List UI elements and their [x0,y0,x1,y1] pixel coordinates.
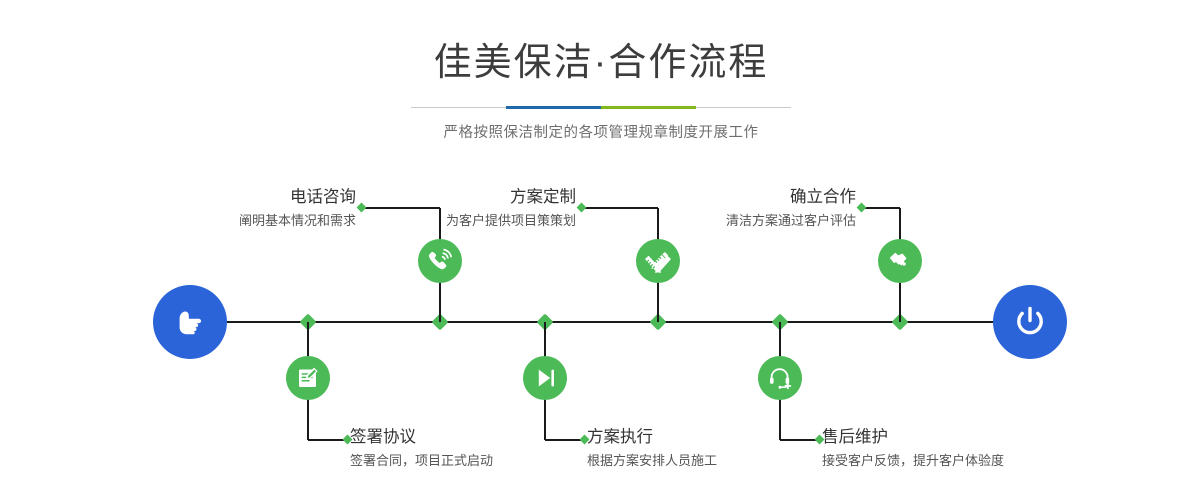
pointing-hand-icon [170,302,210,342]
step-title: 售后维护 [822,428,1152,447]
step-node-sign-agreement[interactable] [286,356,330,400]
start-node[interactable] [153,285,227,359]
step-node-plan-customize[interactable] [636,239,680,283]
pencil-ruler-icon [645,248,671,274]
step-label-plan-customize: 方案定制 为客户提供项目策策划 [320,188,576,229]
step-desc: 阐明基本情况和需求 [100,214,356,229]
step-title: 电话咨询 [100,188,356,207]
step-label-establish-cooperation: 确立合作 清洁方案通过客户评估 [600,188,856,229]
step-title: 确立合作 [600,188,856,207]
step-title: 方案定制 [320,188,576,207]
phone-call-icon [427,248,453,274]
page-title: 佳美保洁·合作流程 [0,44,1202,82]
divider-segment-blue [506,106,601,109]
connector-dot [577,203,587,213]
step-node-establish-cooperation[interactable] [878,239,922,283]
power-icon [1009,301,1051,343]
connector-line [545,439,583,441]
step-node-plan-execute[interactable] [523,356,567,400]
step-desc: 接受客户反馈，提升客户体验度 [822,454,1152,469]
header: 佳美保洁·合作流程 严格按照保洁制定的各项管理规章制度开展工作 [0,0,1202,142]
connector-line [308,439,346,441]
connector-line [862,207,900,209]
step-desc: 清洁方案通过客户评估 [600,214,856,229]
flow-diagram-canvas: 佳美保洁·合作流程 严格按照保洁制定的各项管理规章制度开展工作 [0,0,1202,502]
page-subtitle: 严格按照保洁制定的各项管理规章制度开展工作 [0,121,1202,142]
handshake-icon [887,248,913,274]
step-node-after-sales[interactable] [758,356,802,400]
connector-dot [857,203,867,213]
step-label-phone-consult: 电话咨询 阐明基本情况和需求 [100,188,356,229]
divider-segment-green [601,106,696,109]
step-desc: 为客户提供项目策策划 [320,214,576,229]
step-node-phone-consult[interactable] [418,239,462,283]
play-next-icon [532,365,558,391]
document-pen-icon [295,365,321,391]
title-divider [411,106,791,109]
end-node[interactable] [993,285,1067,359]
step-label-after-sales: 售后维护 接受客户反馈，提升客户体验度 [822,428,1152,469]
headset-plus-icon [767,365,793,391]
connector-line [780,439,818,441]
